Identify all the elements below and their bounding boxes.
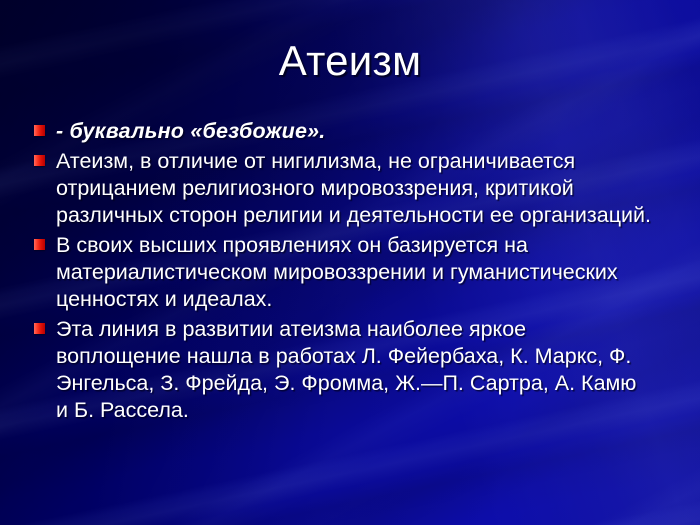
bullet-text: - буквально «безбожие». xyxy=(56,118,654,145)
square-bullet-icon xyxy=(34,125,45,136)
bullet-text: Эта линия в развитии атеизма наиболее яр… xyxy=(56,316,654,424)
bullet-item: В своих высших проявлениях он базируется… xyxy=(34,232,654,313)
slide-body: - буквально «безбожие». Атеизм, в отличи… xyxy=(34,118,654,427)
bullet-item: Эта линия в развитии атеизма наиболее яр… xyxy=(34,316,654,424)
slide-title: Атеизм xyxy=(0,36,700,86)
presentation-slide: Атеизм - буквально «безбожие». Атеизм, в… xyxy=(0,0,700,525)
bullet-text: В своих высших проявлениях он базируется… xyxy=(56,232,654,313)
square-bullet-icon xyxy=(34,239,45,250)
bullet-text: Атеизм, в отличие от нигилизма, не огран… xyxy=(56,148,654,229)
bullet-item: Атеизм, в отличие от нигилизма, не огран… xyxy=(34,148,654,229)
square-bullet-icon xyxy=(34,323,45,334)
bullet-item: - буквально «безбожие». xyxy=(34,118,654,145)
square-bullet-icon xyxy=(34,155,45,166)
